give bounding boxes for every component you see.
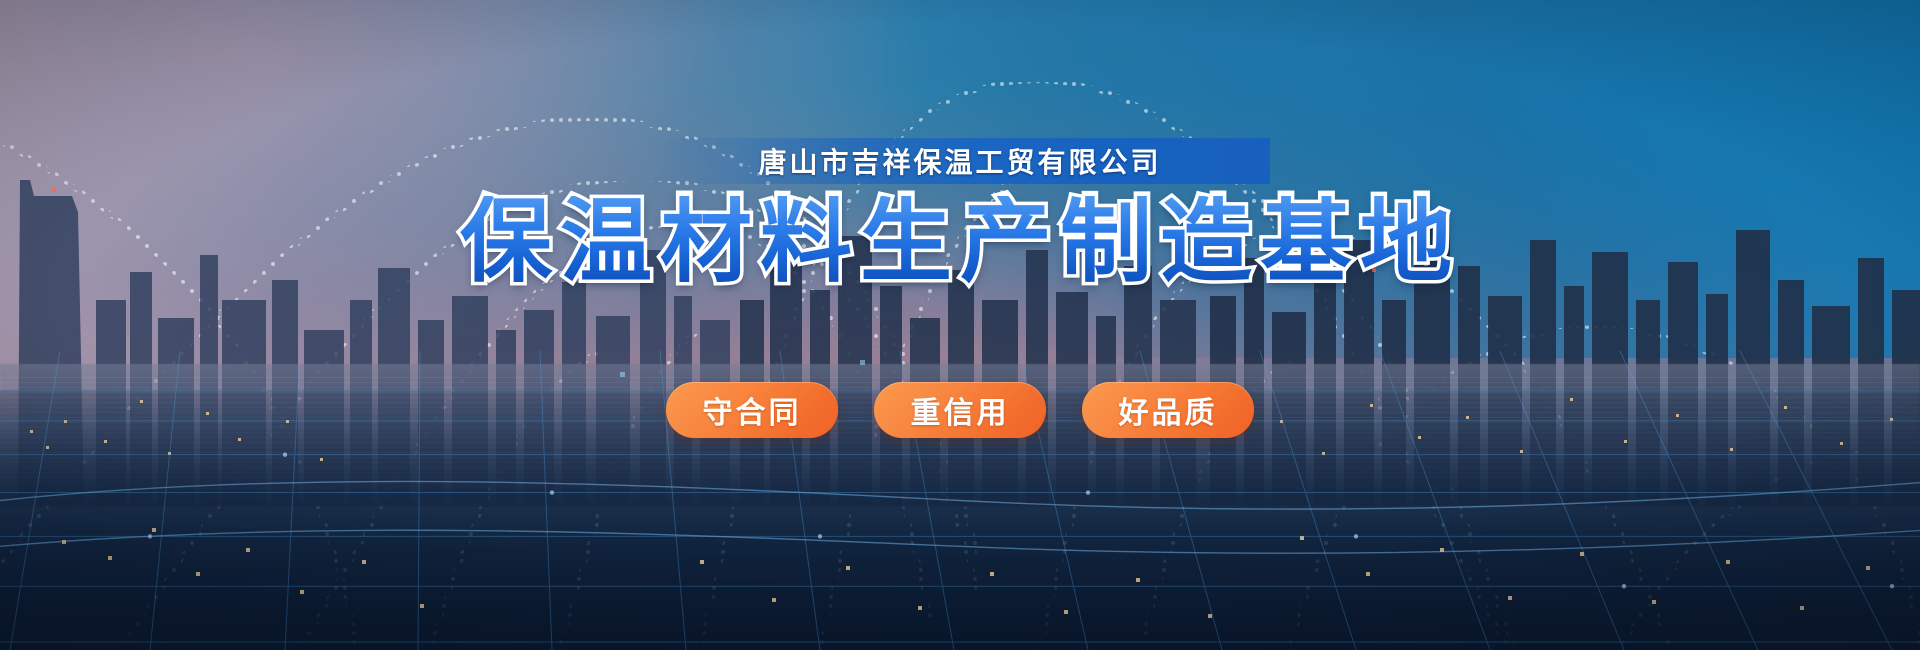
headline-title: 保温材料生产制造基地 — [460, 196, 1460, 288]
hero-banner: 唐山市吉祥保温工贸有限公司 保温材料生产制造基地 保温材料生产制造基地 守合同 … — [0, 0, 1920, 650]
pill-quality-label: 好品质 — [1119, 388, 1218, 432]
pill-credit[interactable]: 重信用 — [874, 382, 1046, 438]
pill-credit-label: 重信用 — [911, 388, 1010, 432]
pill-quality[interactable]: 好品质 — [1082, 382, 1254, 438]
pill-contract-label: 守合同 — [703, 388, 802, 432]
banner-content: 唐山市吉祥保温工贸有限公司 保温材料生产制造基地 保温材料生产制造基地 守合同 … — [0, 0, 1920, 650]
company-name: 唐山市吉祥保温工贸有限公司 — [758, 141, 1161, 181]
pill-contract[interactable]: 守合同 — [666, 382, 838, 438]
feature-pill-row: 守合同 重信用 好品质 — [666, 382, 1254, 438]
company-name-band: 唐山市吉祥保温工贸有限公司 — [650, 138, 1270, 184]
